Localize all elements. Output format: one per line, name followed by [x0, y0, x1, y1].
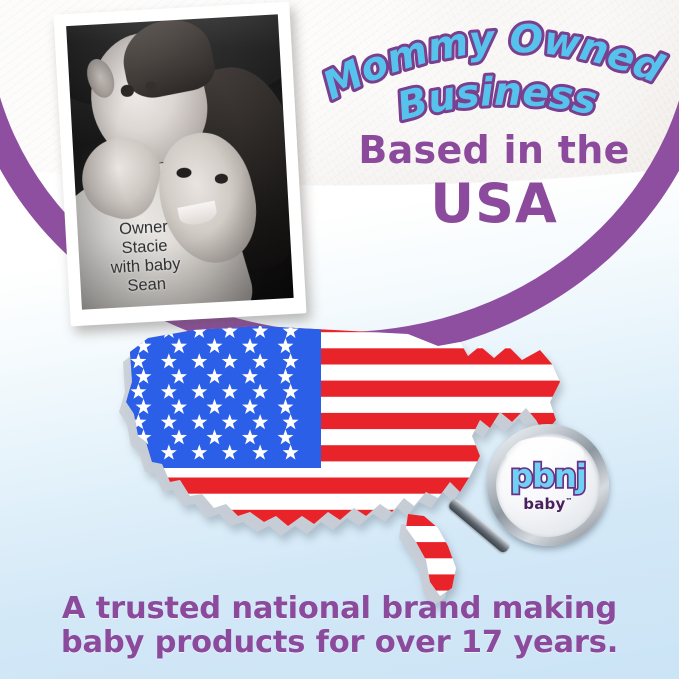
brand-logo-pbnj: pbnj: [496, 457, 600, 495]
trademark-icon: ™: [565, 497, 572, 505]
photo-caption: Owner Stacie with baby Sean: [87, 216, 203, 298]
brand-logo-pbnj-text: pbnj: [510, 457, 586, 495]
magnifier-logo-badge[interactable]: pbnj baby™: [487, 424, 609, 546]
headline-usa: USA: [318, 172, 670, 235]
arc-text-svg: Mommy Owned Business: [318, 14, 670, 140]
magnifier-ring: pbnj baby™: [487, 424, 609, 546]
headline-arc-line2: Business: [393, 70, 601, 130]
magnifier-lens: pbnj baby™: [496, 433, 600, 537]
infographic-canvas: Owner Stacie with baby Sean Mommy Owned …: [0, 0, 679, 679]
bottom-tagline: A trusted national brand making baby pro…: [40, 592, 639, 660]
headline-based-in-the: Based in the: [318, 128, 670, 172]
owner-photo-image: Owner Stacie with baby Sean: [66, 14, 294, 309]
brand-logo-baby: baby™: [496, 495, 600, 513]
headline-arc: Mommy Owned Business: [318, 14, 670, 140]
owner-photo-card: Owner Stacie with baby Sean: [53, 2, 306, 327]
brand-logo-baby-text: baby: [523, 495, 565, 513]
